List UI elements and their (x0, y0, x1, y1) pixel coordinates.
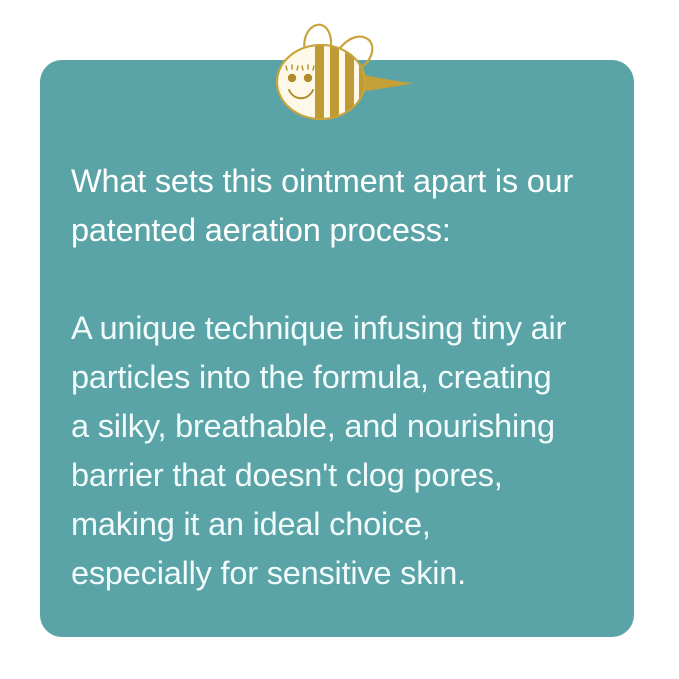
body-line: A unique technique infusing tiny air (71, 304, 631, 353)
headline-colon: : (442, 212, 451, 248)
body-paragraph: A unique technique infusing tiny air par… (71, 304, 631, 598)
headline-emphasis: patented aeration process (71, 212, 442, 248)
bee-eye-right (304, 74, 312, 82)
bee-stinger (358, 74, 414, 92)
copy-block: What sets this ointment apart is our pat… (71, 157, 619, 255)
bee-mascot-illustration (258, 16, 418, 124)
body-line: barrier that doesn't clog pores, (71, 451, 631, 500)
body-line: making it an ideal choice, (71, 500, 631, 549)
body-line: particles into the formula, creating (71, 353, 631, 402)
headline-line-1: What sets this ointment apart is our (71, 157, 619, 206)
bee-eye-left (288, 74, 296, 82)
bee-icon (258, 16, 418, 124)
body-line: a silky, breathable, and nourishing (71, 402, 631, 451)
headline-line-2: patented aeration process: (71, 206, 619, 255)
body-line: especially for sensitive skin. (71, 549, 631, 598)
slide-canvas: What sets this ointment apart is our pat… (0, 0, 679, 679)
